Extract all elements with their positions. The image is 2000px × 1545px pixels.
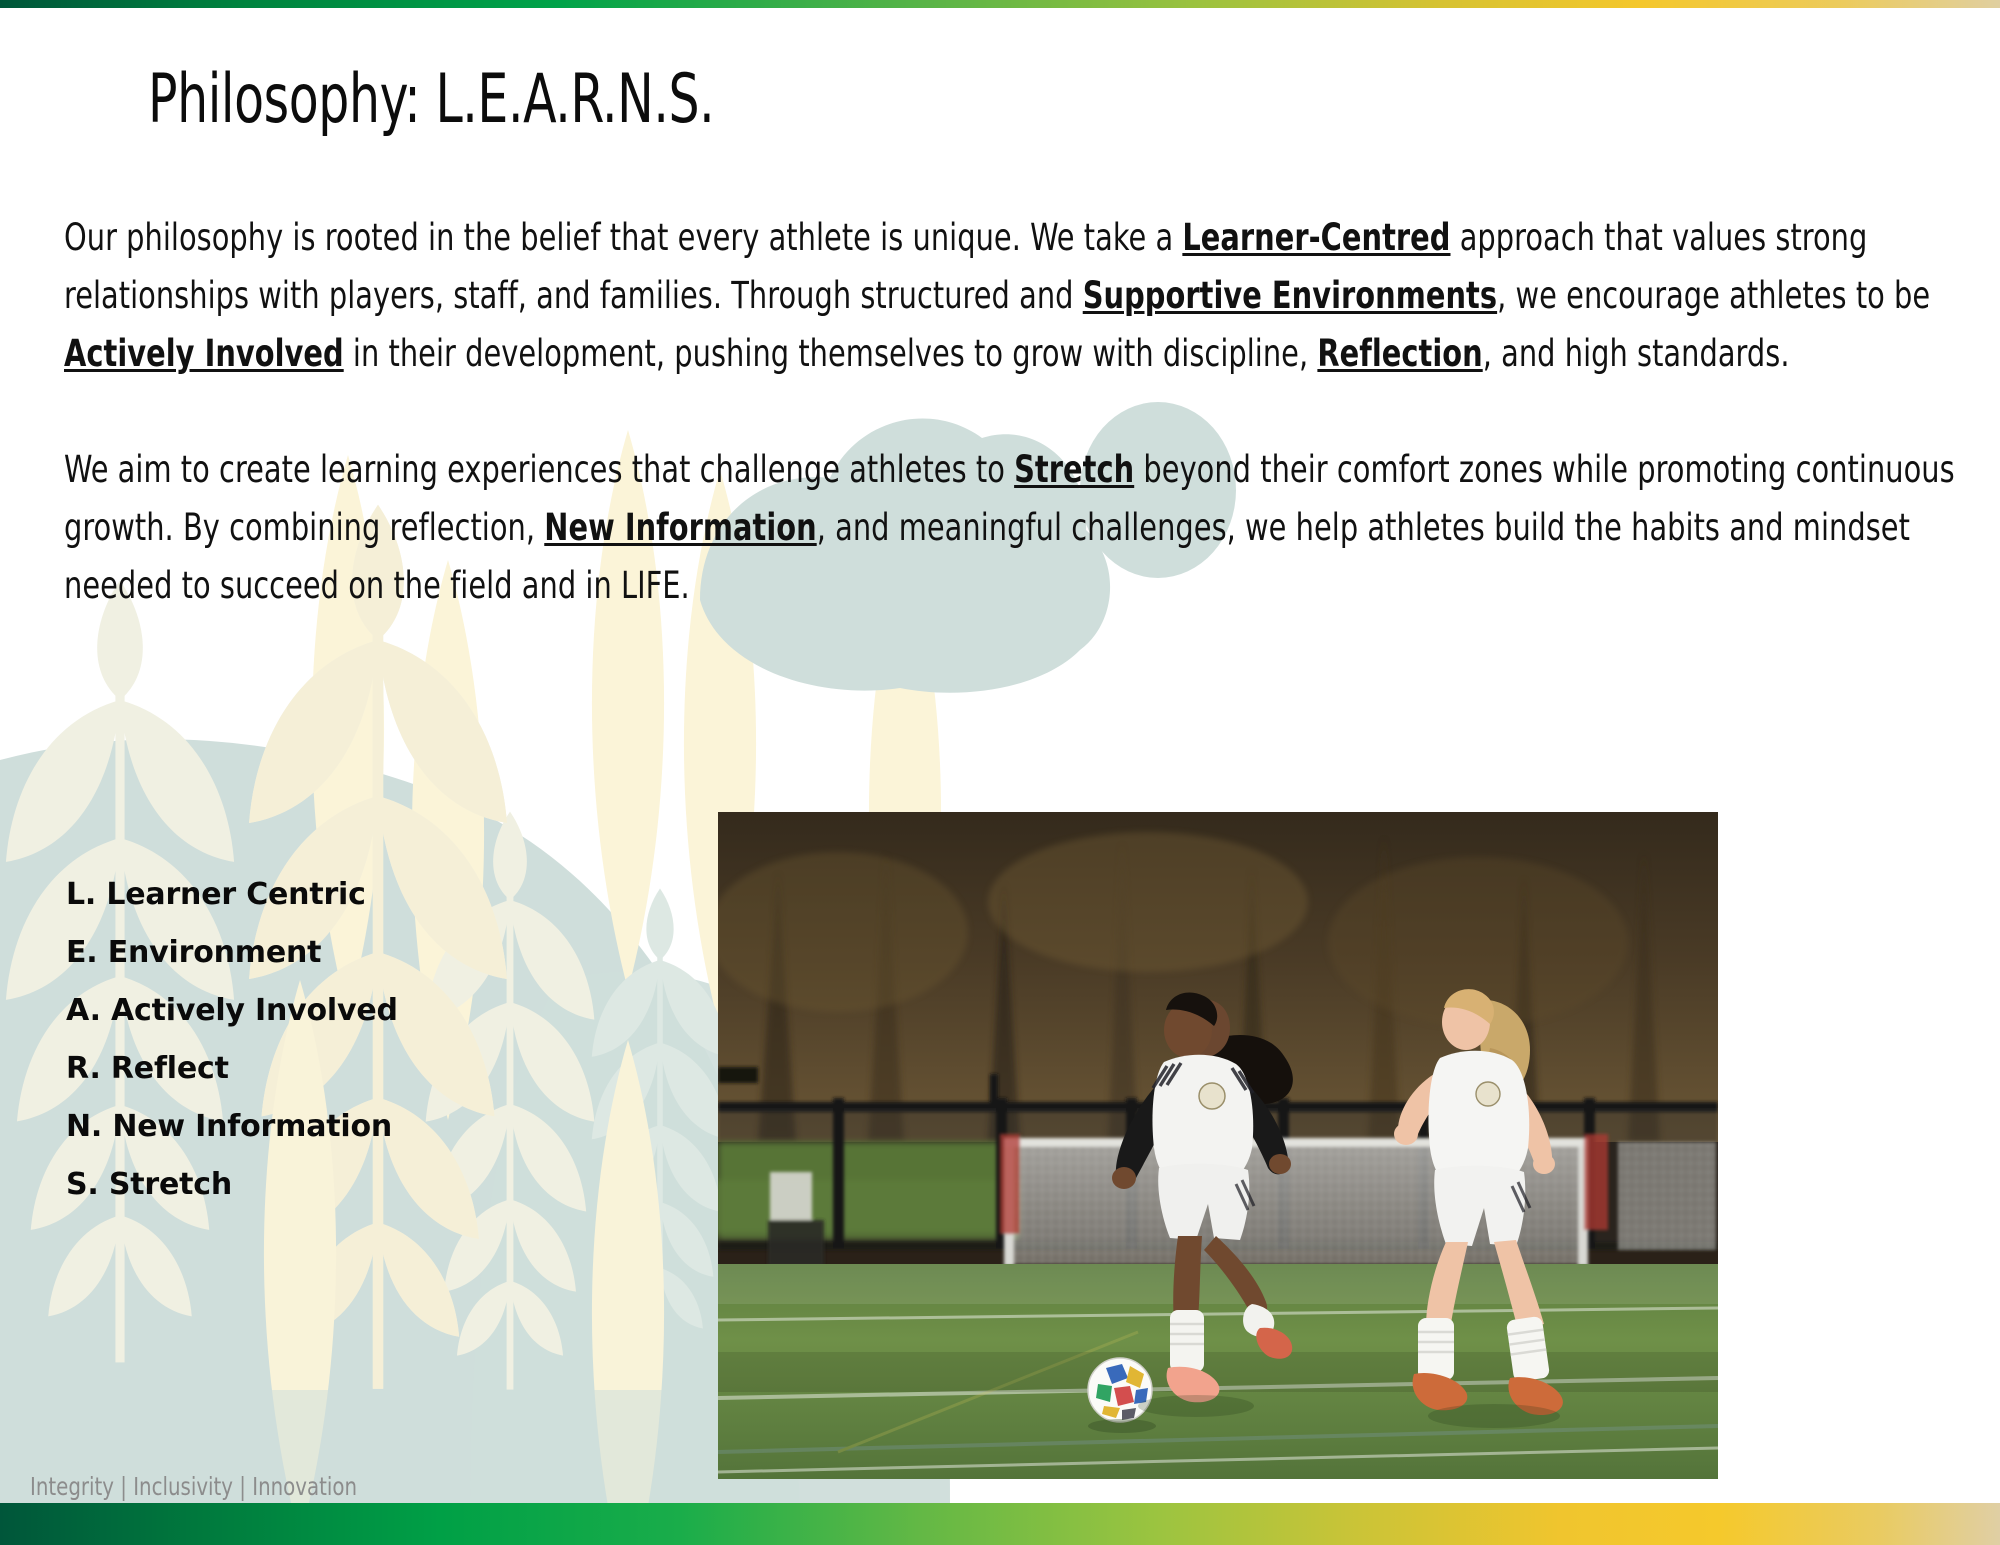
page-title: Philosophy: L.E.A.R.N.S.: [148, 60, 714, 139]
emphasis-term: Actively Involved: [64, 331, 344, 375]
paragraph-1: Our philosophy is rooted in the belief t…: [64, 208, 1962, 382]
emphasis-term: Supportive Environments: [1083, 273, 1497, 317]
list-item: A. Actively Involved: [66, 982, 398, 1040]
emphasis-term: Reflection: [1317, 331, 1482, 375]
paragraph-2: We aim to create learning experiences th…: [64, 440, 1962, 614]
soccer-action-photo: [718, 812, 1718, 1479]
list-item: N. New Information: [66, 1098, 398, 1156]
emphasis-term: Learner-Centred: [1182, 215, 1450, 259]
list-item: L. Learner Centric: [66, 866, 398, 924]
top-gradient-rule: [0, 0, 2000, 8]
footer-tagline: Integrity | Inclusivity | Innovation: [30, 1472, 357, 1501]
emphasis-term: New Information: [544, 505, 816, 549]
list-item: S. Stretch: [66, 1156, 398, 1214]
body-copy: Our philosophy is rooted in the belief t…: [64, 208, 1964, 614]
bottom-gradient-rule: [0, 1503, 2000, 1545]
emphasis-term: Stretch: [1014, 447, 1134, 491]
slide-canvas: Philosophy: L.E.A.R.N.S. Our philosophy …: [0, 0, 2000, 1545]
learns-acronym-list: L. Learner Centric E. Environment A. Act…: [66, 866, 398, 1214]
list-item: E. Environment: [66, 924, 398, 982]
list-item: R. Reflect: [66, 1040, 398, 1098]
